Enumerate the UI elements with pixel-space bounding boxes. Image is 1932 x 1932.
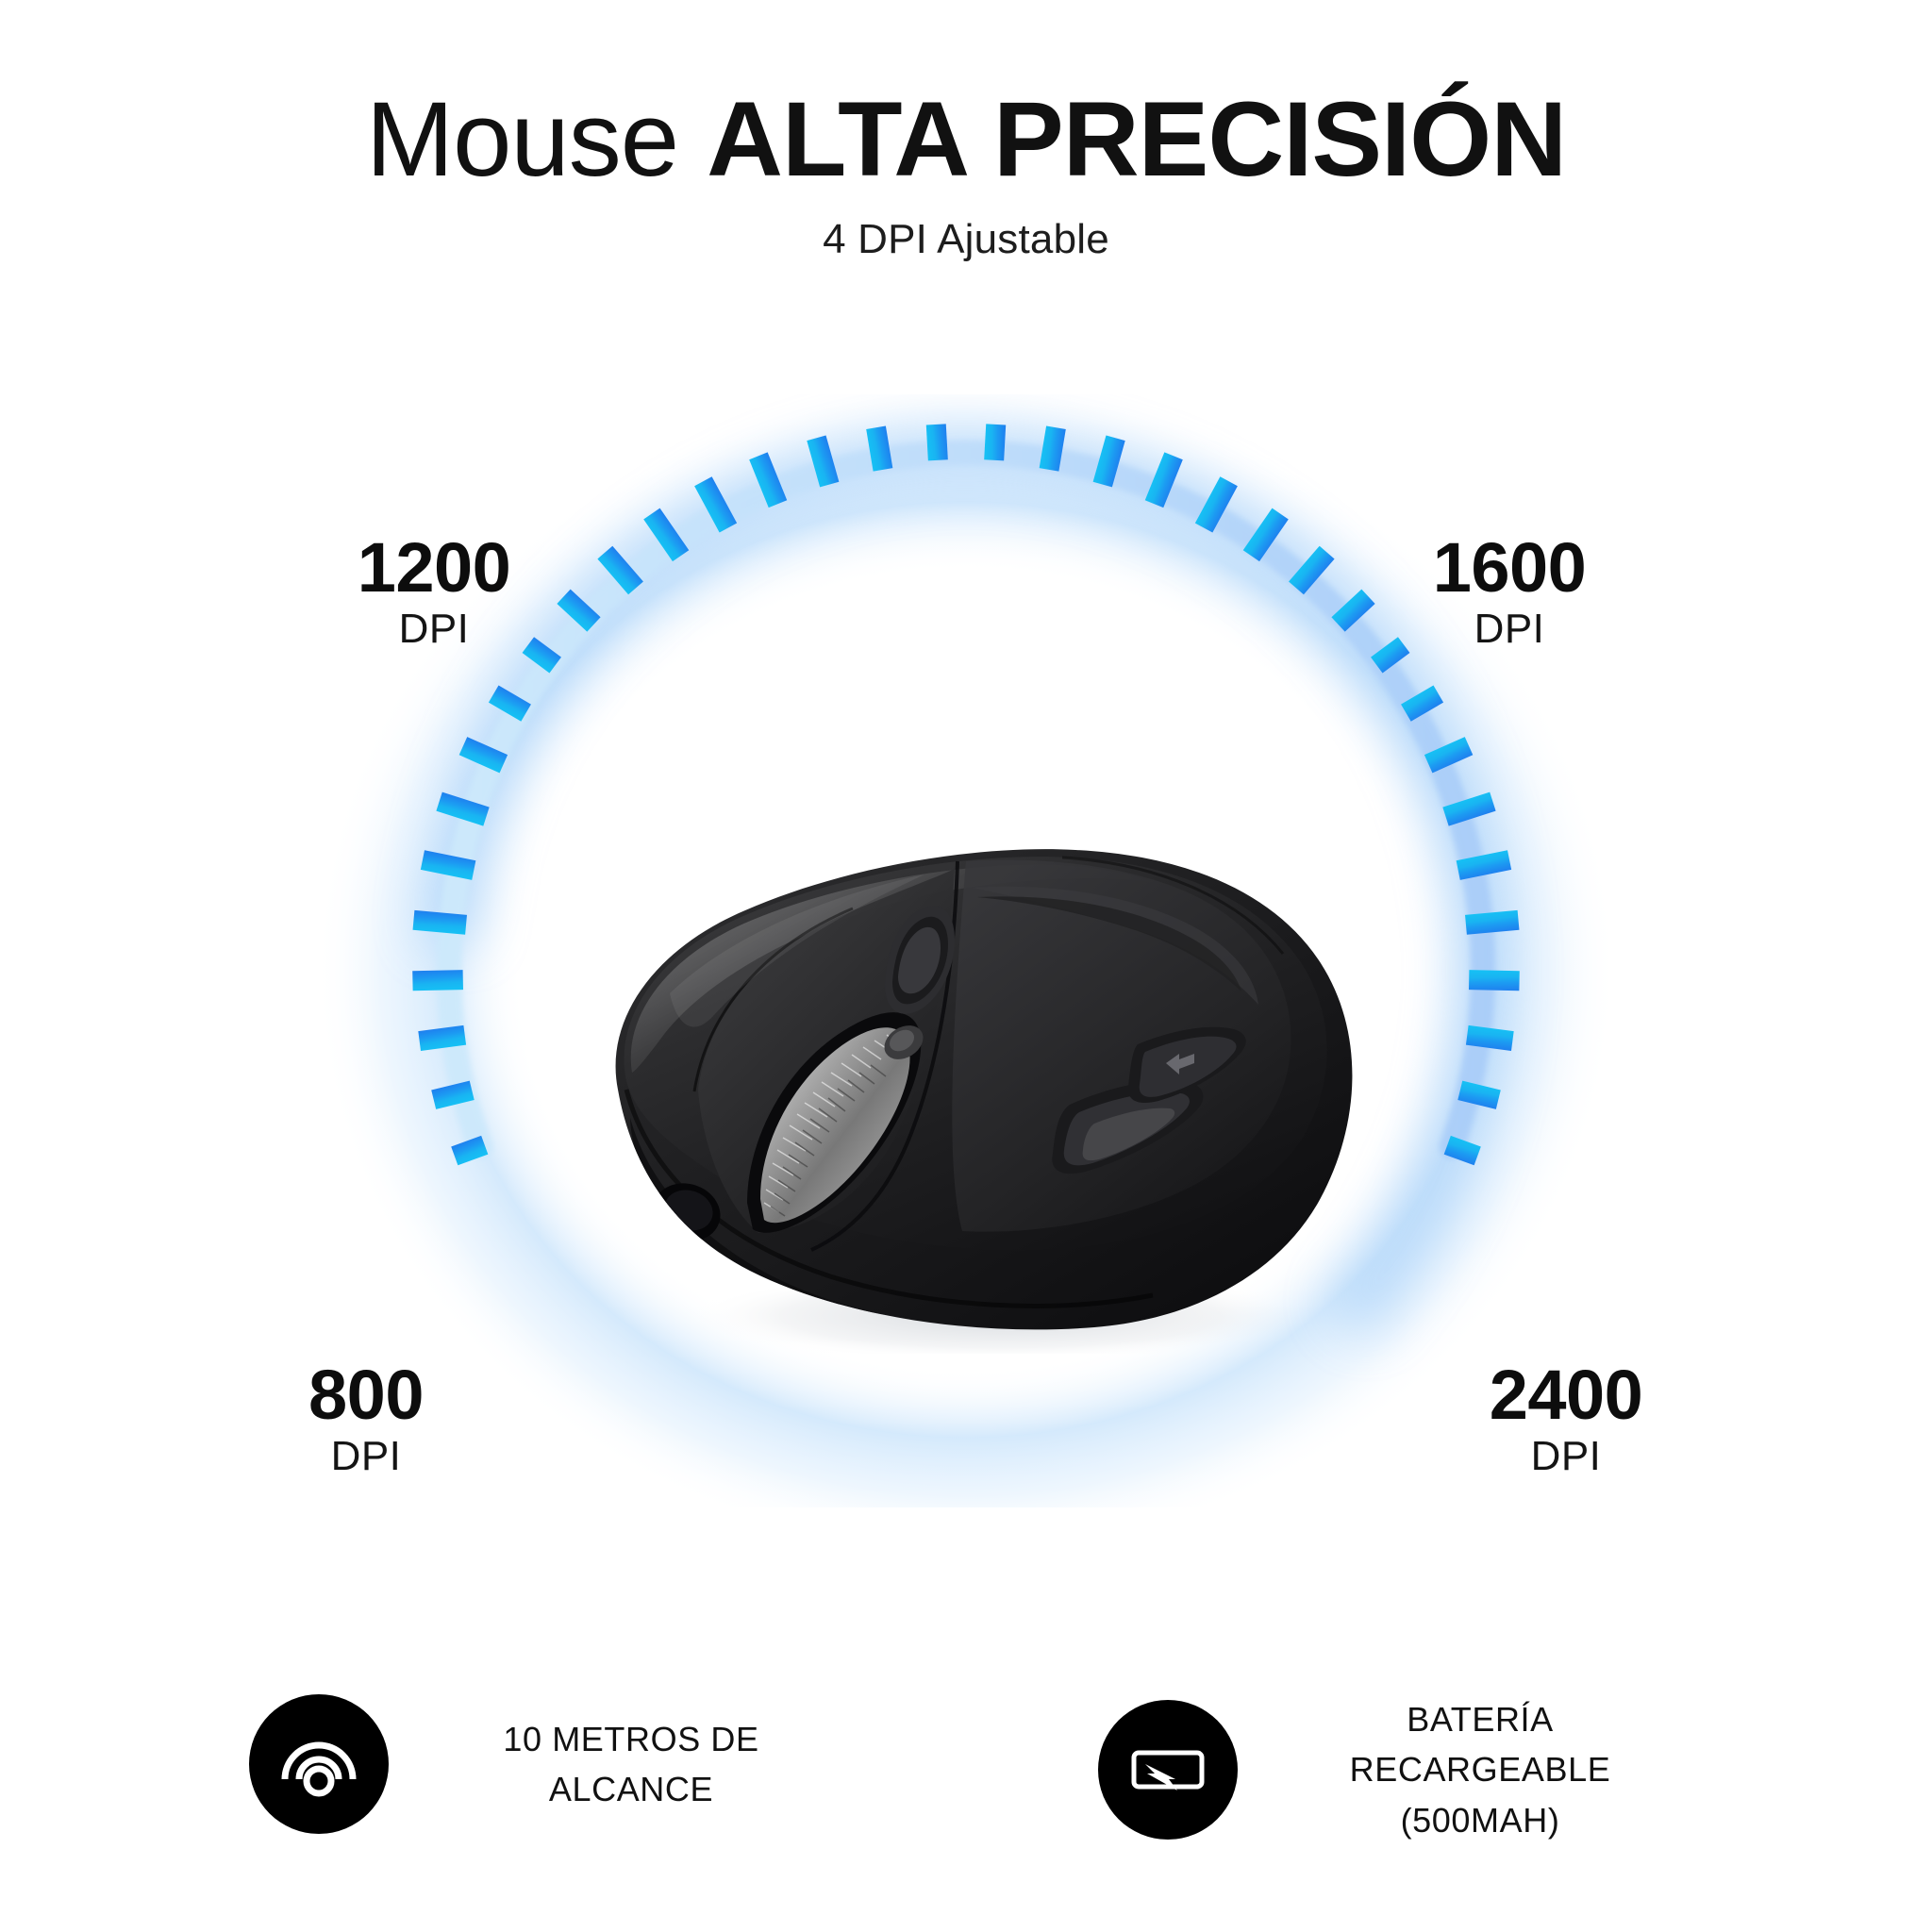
mouse-illustration (528, 807, 1415, 1354)
dpi-value-2400: 2400 (1406, 1360, 1726, 1430)
gauge-tick (926, 424, 948, 460)
page-title-bold: ALTA PRECISIÓN (707, 80, 1566, 198)
feature-battery-line2: RECARGEABLE (1277, 1744, 1683, 1794)
gauge-tick (984, 424, 1006, 460)
wireless-signal-badge (249, 1694, 389, 1834)
feature-row: 10 METROS DE ALCANCE BATERÍA RECARGEABLE… (0, 1694, 1932, 1845)
dpi-label-1200: 1200 DPI (283, 533, 585, 655)
feature-range-text: 10 METROS DE ALCANCE (428, 1714, 834, 1815)
battery-charging-badge (1098, 1700, 1238, 1840)
dpi-label-800: 800 DPI (215, 1360, 517, 1482)
feature-battery-text: BATERÍA RECARGEABLE (500MAH) (1277, 1694, 1683, 1845)
page-title: Mouse ALTA PRECISIÓN (0, 83, 1932, 197)
dpi-unit-1600: DPI (1358, 603, 1660, 655)
feature-battery-line1: BATERÍA (1277, 1694, 1683, 1744)
dpi-value-1600: 1600 (1358, 533, 1660, 603)
battery-charging-icon (1124, 1726, 1211, 1813)
feature-range-line1: 10 METROS DE (428, 1714, 834, 1764)
dpi-value-1200: 1200 (283, 533, 585, 603)
product-image-mouse (528, 807, 1415, 1354)
page-title-light: Mouse (366, 80, 707, 198)
gauge-tick (412, 970, 463, 991)
infographic-page: Mouse ALTA PRECISIÓN 4 DPI Ajustable (0, 0, 1932, 1932)
dpi-unit-1200: DPI (283, 603, 585, 655)
wireless-signal-icon (275, 1721, 362, 1807)
feature-battery-line3: (500MAH) (1277, 1795, 1683, 1845)
feature-range-line2: ALCANCE (428, 1764, 834, 1814)
dpi-unit-800: DPI (215, 1430, 517, 1482)
page-subtitle: 4 DPI Ajustable (0, 216, 1932, 263)
feature-battery: BATERÍA RECARGEABLE (500MAH) (1098, 1694, 1683, 1845)
dpi-value-800: 800 (215, 1360, 517, 1430)
dpi-label-1600: 1600 DPI (1358, 533, 1660, 655)
gauge-tick (1469, 970, 1520, 991)
dpi-label-2400: 2400 DPI (1406, 1360, 1726, 1482)
dpi-unit-2400: DPI (1406, 1430, 1726, 1482)
header: Mouse ALTA PRECISIÓN 4 DPI Ajustable (0, 0, 1932, 263)
feature-range: 10 METROS DE ALCANCE (249, 1694, 834, 1834)
